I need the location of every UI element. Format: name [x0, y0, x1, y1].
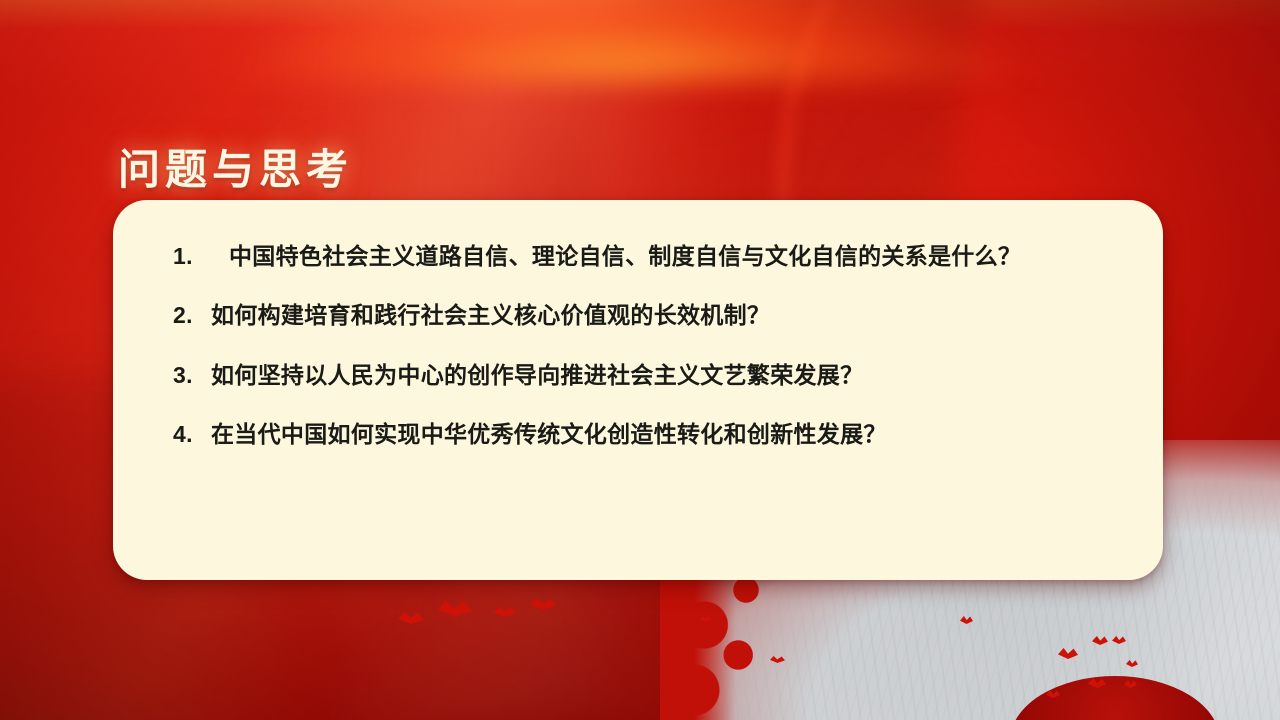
question-text: 如何构建培育和践行社会主义核心价值观的长效机制？: [211, 299, 1117, 332]
question-item: 3. 如何坚持以人民为中心的创作导向推进社会主义文艺繁荣发展？: [173, 359, 1117, 392]
question-number: 3.: [173, 359, 211, 392]
question-list: 1. 中国特色社会主义道路自信、理论自信、制度自信与文化自信的关系是什么？ 2.…: [173, 240, 1117, 451]
slide-root: 问题与思考 1. 中国特色社会主义道路自信、理论自信、制度自信与文化自信的关系是…: [0, 0, 1280, 720]
slide-title: 问题与思考: [118, 136, 353, 197]
question-item: 4. 在当代中国如何实现中华优秀传统文化创造性转化和创新性发展？: [173, 418, 1117, 451]
question-text: 如何坚持以人民为中心的创作导向推进社会主义文艺繁荣发展？: [211, 359, 1117, 392]
question-number: 4.: [173, 418, 211, 451]
question-card: 1. 中国特色社会主义道路自信、理论自信、制度自信与文化自信的关系是什么？ 2.…: [113, 200, 1163, 580]
question-text: 中国特色社会主义道路自信、理论自信、制度自信与文化自信的关系是什么？: [229, 240, 1117, 273]
question-item: 2. 如何构建培育和践行社会主义核心价值观的长效机制？: [173, 299, 1117, 332]
question-number: 1.: [173, 240, 229, 273]
question-number: 2.: [173, 299, 211, 332]
question-item: 1. 中国特色社会主义道路自信、理论自信、制度自信与文化自信的关系是什么？: [173, 240, 1117, 273]
question-text: 在当代中国如何实现中华优秀传统文化创造性转化和创新性发展？: [211, 418, 1117, 451]
